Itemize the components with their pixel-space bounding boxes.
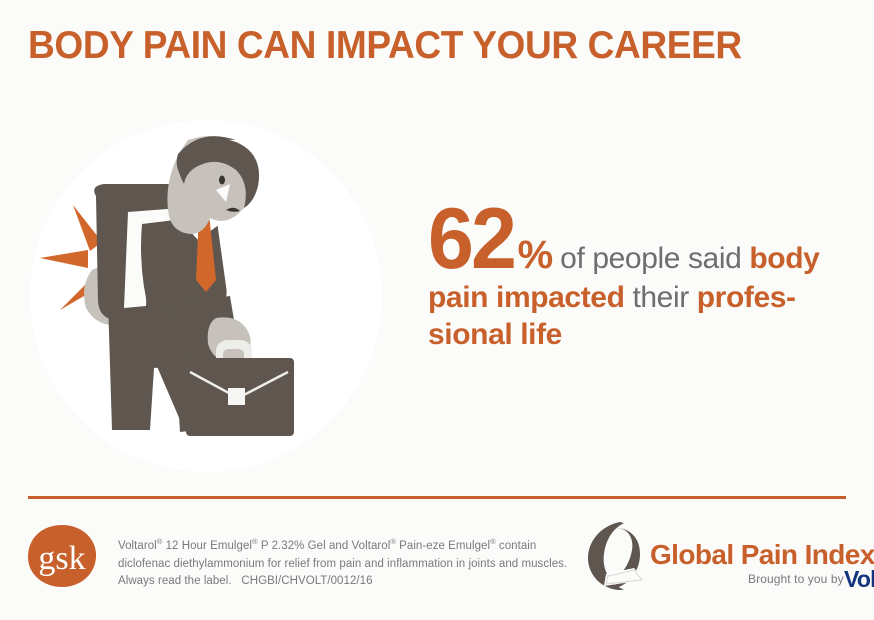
gsk-logo-text: gsk	[38, 540, 85, 577]
statistic-lead-text: of people said	[552, 242, 749, 275]
statistic-block: 62% of people said body pain impacted th…	[428, 196, 858, 353]
legal-part-4: Pain-eze Emulgel	[396, 540, 490, 552]
legal-reference-code: CHGBI/CHVOLT/0012/16	[241, 575, 372, 587]
statistic-plain-their: their	[625, 281, 697, 314]
voltarol-wordmark: Voltarol	[844, 566, 874, 593]
page-title: BODY PAIN CAN IMPACT YOUR CAREER	[28, 26, 742, 65]
head	[167, 136, 259, 234]
global-pain-index-lockup: Global Pain Index Brought to you by Volt…	[586, 518, 856, 600]
percent-symbol: %	[518, 233, 553, 277]
legal-part-2: 12 Hour Emulgel	[162, 540, 252, 552]
statistic-emphasis-body: body	[749, 242, 819, 275]
statistic-emphasis-sional-life: sional life	[428, 318, 562, 351]
brought-to-you-by-label: Brought to you by	[748, 572, 844, 586]
statistic-emphasis-profes: profes-	[697, 281, 796, 314]
legal-part-1: Voltarol	[118, 540, 157, 552]
legal-disclaimer: Voltarol® 12 Hour Emulgel® P 2.32% Gel a…	[118, 536, 568, 591]
illustration-container	[30, 120, 390, 480]
global-pain-index-title: Global Pain Index	[650, 539, 874, 571]
footer: gsk Voltarol® 12 Hour Emulgel® P 2.32% G…	[0, 512, 874, 612]
footer-divider	[28, 496, 846, 499]
infographic-page: BODY PAIN CAN IMPACT YOUR CAREER	[0, 0, 874, 620]
statistic-body-text: pain impacted their profes- sional life	[428, 280, 846, 353]
businessman-back-pain-illustration	[30, 120, 390, 480]
statistic-headline: 62% of people said body	[428, 196, 858, 282]
statistic-number: 62	[428, 196, 514, 282]
seated-person-crescent-icon	[586, 520, 648, 592]
legal-part-3: P 2.32% Gel and Voltarol	[258, 540, 391, 552]
gsk-logo: gsk	[26, 523, 98, 589]
